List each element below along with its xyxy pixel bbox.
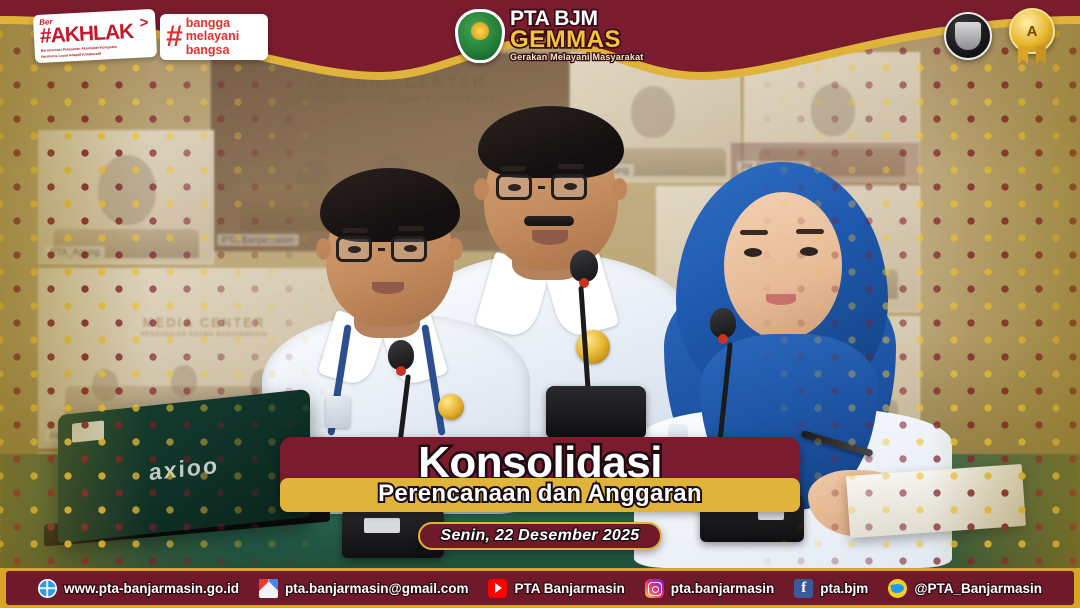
logo-bangga-melayani-bangsa: # bangga melayani bangsa [160,14,268,60]
event-date-badge: Senin, 22 Desember 2025 [418,522,661,550]
twitter-icon [888,579,907,598]
gmail-icon [259,579,278,598]
youtube-icon [488,579,507,598]
logo-berakhlak: > Ber #AKHLAK Berorientasi Pelayanan Aku… [33,9,157,63]
logo-award-medal: A [1006,8,1058,66]
facebook-icon: f [794,579,813,598]
footer-youtube-label: PTA Banjarmasin [514,581,624,596]
gemmas-line2: GEMMAS [510,28,643,52]
award-medal-grade: A [1009,8,1055,54]
bangga-text: bangga melayani bangsa [186,17,240,57]
footer-website-label: www.pta-banjarmasin.go.id [64,581,239,596]
poster-canvas: COMMAND CENTER PENGADILAN TINGGI AGAMA B… [0,0,1080,608]
footer-item-youtube[interactable]: PTA Banjarmasin [488,579,624,598]
globe-icon [38,579,57,598]
footer-contact-bar: www.pta-banjarmasin.go.id pta.banjarmasi… [6,571,1074,605]
page-subtitle: Perencanaan dan Anggaran [296,480,784,508]
footer-item-twitter[interactable]: @PTA_Banjarmasin [888,579,1042,598]
footer-instagram-label: pta.banjarmasin [671,581,775,596]
footer-item-instagram[interactable]: pta.banjarmasin [645,579,775,598]
bangga-hash-icon: # [166,22,183,52]
footer-twitter-label: @PTA_Banjarmasin [914,581,1042,596]
uniform-emblem-badge [438,394,464,420]
akreditasi-seal-inner-icon [955,22,981,50]
footer-email-label: pta.banjarmasin@gmail.com [285,581,468,596]
akhlak-arrow-icon: > [139,14,149,31]
event-date: Senin, 22 Desember 2025 [440,527,639,545]
title-block: Konsolidasi Perencanaan dan Anggaran Sen… [280,437,800,550]
footer: www.pta-banjarmasin.go.id pta.banjarmasi… [0,568,1080,608]
instagram-icon [645,579,664,598]
footer-item-email[interactable]: pta.banjarmasin@gmail.com [259,579,468,598]
logo-akreditasi-seal [944,12,992,60]
title-subtitle-banner: Perencanaan dan Anggaran [280,478,800,512]
footer-item-facebook[interactable]: f pta.bjm [794,579,868,598]
gemmas-seal-icon [455,9,505,63]
footer-facebook-label: pta.bjm [820,581,868,596]
gemmas-line3: Gerakan Melayani Masyarakat [510,52,643,62]
footer-item-website[interactable]: www.pta-banjarmasin.go.id [38,579,239,598]
logo-pta-bjm-gemmas: PTA BJM GEMMAS Gerakan Melayani Masyarak… [455,4,645,68]
